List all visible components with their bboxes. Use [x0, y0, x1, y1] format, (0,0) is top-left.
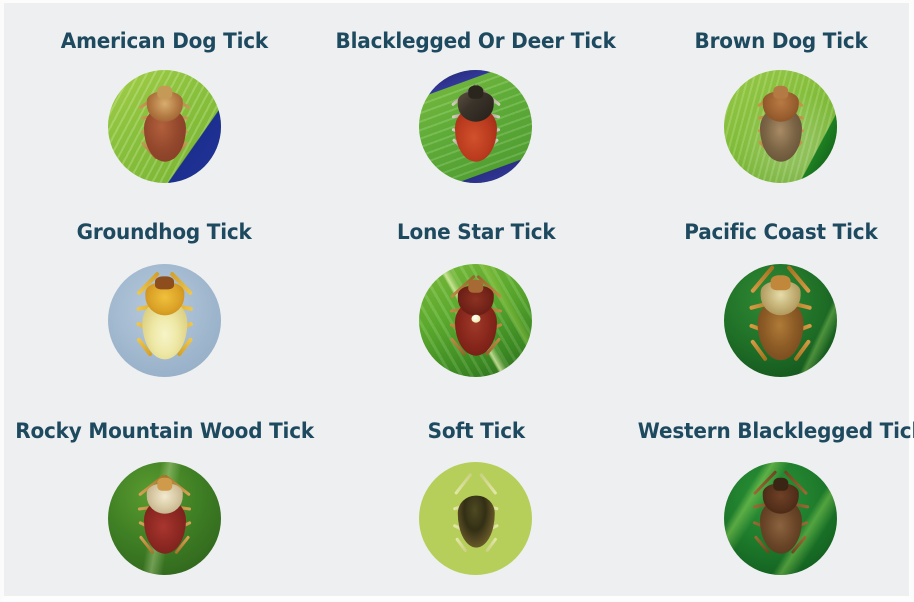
tick-species-grid: American Dog Tick Bla — [4, 3, 909, 596]
species-label: Lone Star Tick — [397, 222, 556, 244]
tick-illustration — [130, 89, 200, 164]
tick-illustration — [746, 89, 816, 164]
species-label: Groundhog Tick — [77, 222, 252, 244]
species-cell-soft-tick[interactable]: Soft Tick — [325, 403, 626, 596]
groundhog-tick-photo[interactable] — [108, 264, 221, 377]
tick-head — [157, 86, 172, 99]
brown-dog-tick-photo[interactable] — [724, 70, 837, 183]
species-label: Soft Tick — [427, 421, 524, 443]
species-label: Blacklegged Or Deer Tick — [336, 31, 616, 53]
tick-illustration — [130, 481, 200, 556]
tick-illustration — [746, 481, 816, 556]
tick-head — [157, 478, 172, 491]
soft-tick-photo[interactable] — [419, 462, 532, 575]
species-label: Rocky Mountain Wood Tick — [15, 421, 314, 443]
tick-illustration — [452, 489, 499, 548]
lone-star-tick-photo[interactable] — [419, 264, 532, 377]
species-cell-american-dog-tick[interactable]: American Dog Tick — [4, 3, 325, 203]
species-cell-blacklegged-deer-tick[interactable]: Blacklegged Or Deer Tick — [325, 3, 626, 203]
species-label: Western Blacklegged Tick — [637, 421, 914, 443]
lone-star-white-spot — [471, 315, 480, 323]
species-cell-groundhog-tick[interactable]: Groundhog Tick — [4, 203, 325, 403]
tick-head — [773, 478, 788, 491]
species-label: American Dog Tick — [61, 31, 268, 53]
tick-head — [468, 280, 483, 293]
species-cell-western-blacklegged-tick[interactable]: Western Blacklegged Tick — [627, 403, 914, 596]
tick-illustration — [742, 278, 819, 362]
species-cell-pacific-coast-tick[interactable]: Pacific Coast Tick — [627, 203, 914, 403]
rocky-mountain-wood-tick-photo[interactable] — [108, 462, 221, 575]
species-label: Brown Dog Tick — [694, 31, 867, 53]
species-cell-brown-dog-tick[interactable]: Brown Dog Tick — [627, 3, 914, 203]
tick-body — [457, 496, 494, 548]
species-cell-rocky-mountain-wood-tick[interactable]: Rocky Mountain Wood Tick — [4, 403, 325, 596]
american-dog-tick-photo[interactable] — [108, 70, 221, 183]
species-label: Pacific Coast Tick — [684, 222, 877, 244]
pacific-coast-tick-photo[interactable] — [724, 264, 837, 377]
tick-head — [771, 275, 791, 290]
tick-head — [155, 276, 174, 289]
western-blacklegged-tick-photo[interactable] — [724, 462, 837, 575]
tick-head — [468, 86, 483, 99]
tick-illustration — [127, 279, 202, 360]
tick-illustration — [441, 283, 511, 358]
blacklegged-deer-tick-photo[interactable] — [419, 70, 532, 183]
tick-identification-poster: American Dog Tick Bla — [0, 0, 914, 602]
tick-head — [773, 86, 788, 99]
species-cell-lone-star-tick[interactable]: Lone Star Tick — [325, 203, 626, 403]
tick-illustration — [441, 89, 511, 164]
